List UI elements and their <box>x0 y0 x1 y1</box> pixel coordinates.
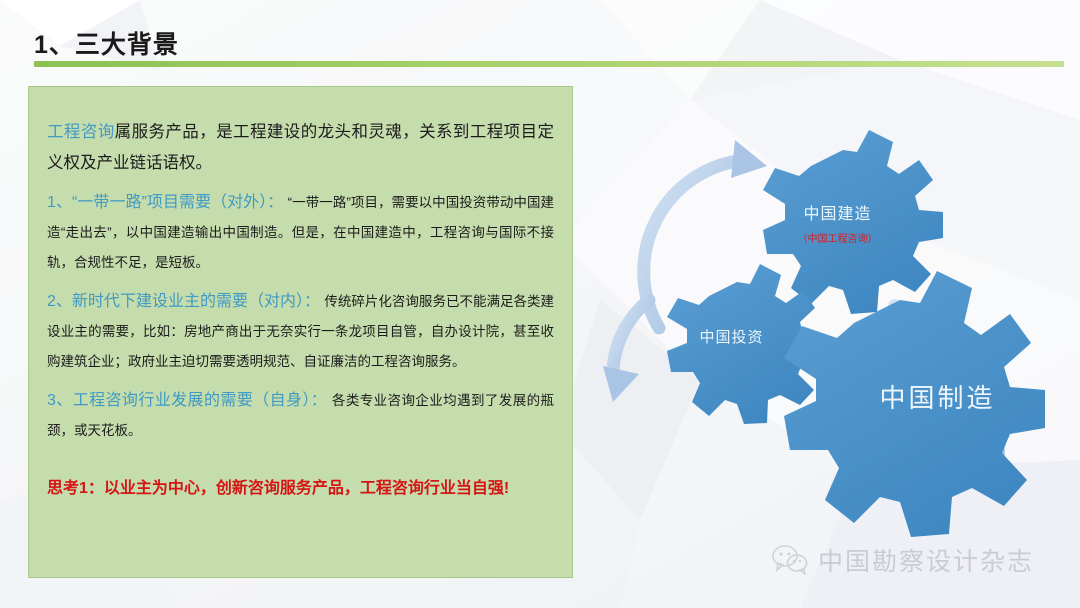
watermark-text: 中国勘察设计杂志 <box>818 542 1034 578</box>
watermark: 中国勘察设计杂志 <box>772 540 1034 580</box>
conclusion-callout: 思考1：以业主为中心，创新咨询服务产品，工程咨询行业当自强! <box>47 476 554 502</box>
arrow-left-descend <box>603 300 649 402</box>
lead-rest: 属服务产品，是工程建设的龙头和灵魂，关系到工程项目定义权及产业链话语权。 <box>47 123 554 172</box>
title-underline-rule <box>34 61 1064 67</box>
slide-header: 1、三大背景 <box>0 0 1080 70</box>
lead-highlight: 工程咨询 <box>47 123 115 141</box>
background-item-2-heading: 2、新时代下建设业主的需要（对内）： <box>47 293 320 310</box>
wechat-icon <box>772 545 808 575</box>
page-title: 1、三大背景 <box>34 25 179 61</box>
background-item-3-heading: 3、工程咨询行业发展的需要（自身）： <box>47 392 327 409</box>
lead-paragraph: 工程咨询属服务产品，是工程建设的龙头和灵魂，关系到工程项目定义权及产业链话语权。 <box>47 117 554 179</box>
gear-diagram-svg <box>595 78 1080 548</box>
gear-china-construction <box>763 130 943 314</box>
content-panel: 工程咨询属服务产品，是工程建设的龙头和灵魂，关系到工程项目定义权及产业链话语权。… <box>28 86 573 578</box>
background-item-2: 2、新时代下建设业主的需要（对内）： 传统碎片化咨询服务已不能满足各类建设业主的… <box>47 287 554 377</box>
gear-diagram: 中国建造 （中国工程咨询） 中国投资 中国制造 <box>595 78 1080 548</box>
background-item-1-heading: 1、“一带一路”项目需要（对外）： <box>47 194 283 211</box>
background-item-1: 1、“一带一路”项目需要（对外）： “一带一路”项目，需要以中国投资带动中国建造… <box>47 188 554 278</box>
gear-china-manufacturing <box>784 271 1045 537</box>
slide-canvas: 1、三大背景 工程咨询属服务产品，是工程建设的龙头和灵魂，关系到工程项目定义权及… <box>0 0 1080 608</box>
background-item-3: 3、工程咨询行业发展的需要（自身）： 各类专业咨询企业均遇到了发展的瓶颈，或天花… <box>47 386 554 446</box>
